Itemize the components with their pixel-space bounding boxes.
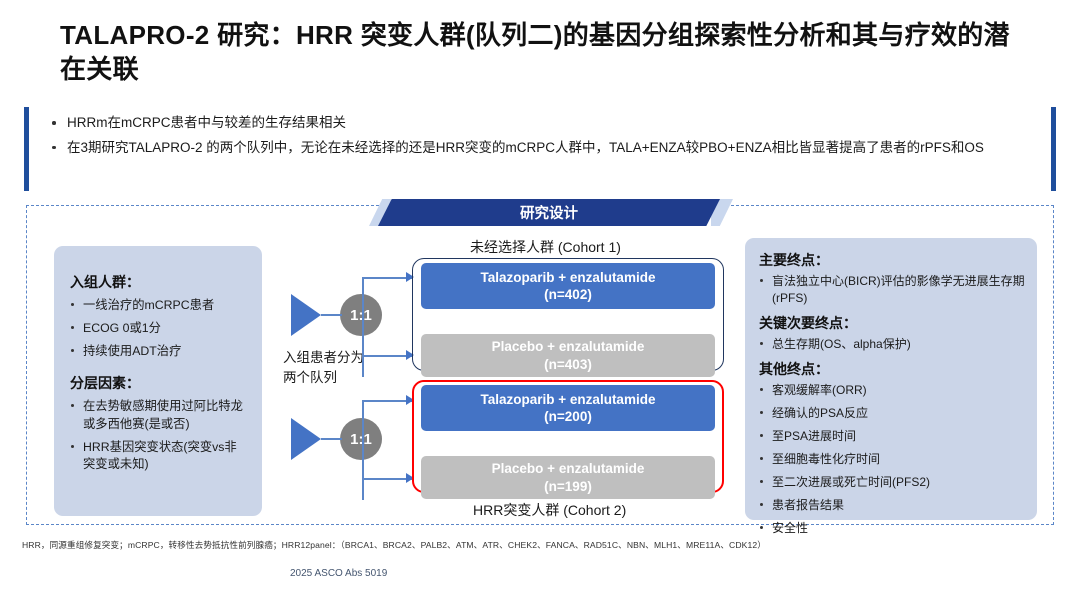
- list-item: 在去势敏感期使用过阿比特龙或多西他赛(是或否): [70, 398, 248, 433]
- primary-endpoint-list: 盲法独立中心(BICR)评估的影像学无进展生存期(rPFS): [759, 273, 1025, 307]
- flow-triangle-cohort2-icon: [291, 418, 321, 460]
- enrollment-criteria-list: 一线治疗的mCRPC患者 ECOG 0或1分 持续使用ADT治疗: [70, 297, 248, 360]
- randomization-split-label: 入组患者分为两个队列: [283, 348, 368, 387]
- list-item: HRRm在mCRPC患者中与较差的生存结果相关: [50, 113, 1030, 134]
- list-item: 在3期研究TALAPRO-2 的两个队列中，无论在未经选择的还是HRR突变的mC…: [50, 138, 1030, 159]
- accent-rail-left: [24, 107, 29, 191]
- connector-line: [321, 314, 342, 316]
- cohort1-control-arm: Placebo + enzalutamide (n=403): [421, 334, 715, 377]
- cohort2-label: HRR突变人群 (Cohort 2): [473, 500, 626, 520]
- summary-block: HRRm在mCRPC患者中与较差的生存结果相关 在3期研究TALAPRO-2 的…: [24, 107, 1056, 191]
- page-title: TALAPRO-2 研究：HRR 突变人群(队列二)的基因分组探索性分析和其与疗…: [60, 18, 1020, 87]
- stratification-list: 在去势敏感期使用过阿比特龙或多西他赛(是或否) HRR基因突变状态(突变vs非突…: [70, 398, 248, 473]
- arm-label: Placebo + enzalutamide: [492, 460, 645, 477]
- enrollment-panel: 入组人群： 一线治疗的mCRPC患者 ECOG 0或1分 持续使用ADT治疗 分…: [54, 246, 262, 516]
- randomization-ratio-cohort2: 1:1: [340, 418, 382, 460]
- arm-label: Placebo + enzalutamide: [492, 338, 645, 355]
- abbreviations-footnote: HRR，同源重组修复突变；mCRPC，转移性去势抵抗性前列腺癌；HRR12pan…: [22, 539, 1062, 551]
- connector-line: [362, 400, 364, 500]
- stratification-heading: 分层因素：: [70, 373, 248, 393]
- arm-label: Talazoparib + enzalutamide: [481, 391, 656, 408]
- arm-count: (n=403): [544, 356, 592, 373]
- connector-line: [362, 400, 412, 402]
- cohort2-control-arm: Placebo + enzalutamide (n=199): [421, 456, 715, 499]
- endpoints-panel: 主要终点： 盲法独立中心(BICR)评估的影像学无进展生存期(rPFS) 关键次…: [745, 238, 1037, 520]
- summary-list: HRRm在mCRPC患者中与较差的生存结果相关 在3期研究TALAPRO-2 的…: [24, 107, 1056, 159]
- connector-line: [321, 438, 342, 440]
- list-item: 至PSA进展时间: [759, 428, 1025, 445]
- cohort2-treatment-arm: Talazoparib + enzalutamide (n=200): [421, 385, 715, 431]
- arm-count: (n=200): [544, 408, 592, 425]
- arm-count: (n=199): [544, 478, 592, 495]
- key-secondary-endpoint-list: 总生存期(OS、alpha保护): [759, 336, 1025, 353]
- enrollment-heading: 入组人群：: [70, 272, 248, 292]
- flow-triangle-cohort1-icon: [291, 294, 321, 336]
- randomization-ratio-cohort1: 1:1: [340, 294, 382, 336]
- list-item: HRR基因突变状态(突变vs非突变或未知): [70, 439, 248, 474]
- list-item: ECOG 0或1分: [70, 320, 248, 337]
- connector-line: [362, 277, 412, 279]
- primary-endpoint-heading: 主要终点：: [759, 250, 1025, 270]
- accent-rail-right: [1051, 107, 1056, 191]
- cohort1-treatment-arm: Talazoparib + enzalutamide (n=402): [421, 263, 715, 309]
- list-item: 经确认的PSA反应: [759, 405, 1025, 422]
- list-item: 至二次进展或死亡时间(PFS2): [759, 474, 1025, 491]
- list-item: 客观缓解率(ORR): [759, 382, 1025, 399]
- citation-text: 2025 ASCO Abs 5019: [290, 568, 387, 579]
- connector-line: [362, 355, 412, 357]
- list-item: 安全性: [759, 520, 1025, 537]
- other-endpoint-list: 客观缓解率(ORR) 经确认的PSA反应 至PSA进展时间 至细胞毒性化疗时间 …: [759, 382, 1025, 537]
- list-item: 一线治疗的mCRPC患者: [70, 297, 248, 314]
- arm-count: (n=402): [544, 286, 592, 303]
- study-design-banner: 研究设计: [378, 199, 720, 226]
- connector-line: [362, 478, 412, 480]
- arm-label: Talazoparib + enzalutamide: [481, 269, 656, 286]
- other-endpoint-heading: 其他终点：: [759, 359, 1025, 379]
- key-secondary-endpoint-heading: 关键次要终点：: [759, 313, 1025, 333]
- list-item: 持续使用ADT治疗: [70, 343, 248, 360]
- list-item: 盲法独立中心(BICR)评估的影像学无进展生存期(rPFS): [759, 273, 1025, 307]
- cohort1-label: 未经选择人群 (Cohort 1): [470, 237, 621, 257]
- list-item: 患者报告结果: [759, 497, 1025, 514]
- list-item: 总生存期(OS、alpha保护): [759, 336, 1025, 353]
- connector-line: [362, 277, 364, 377]
- list-item: 至细胞毒性化疗时间: [759, 451, 1025, 468]
